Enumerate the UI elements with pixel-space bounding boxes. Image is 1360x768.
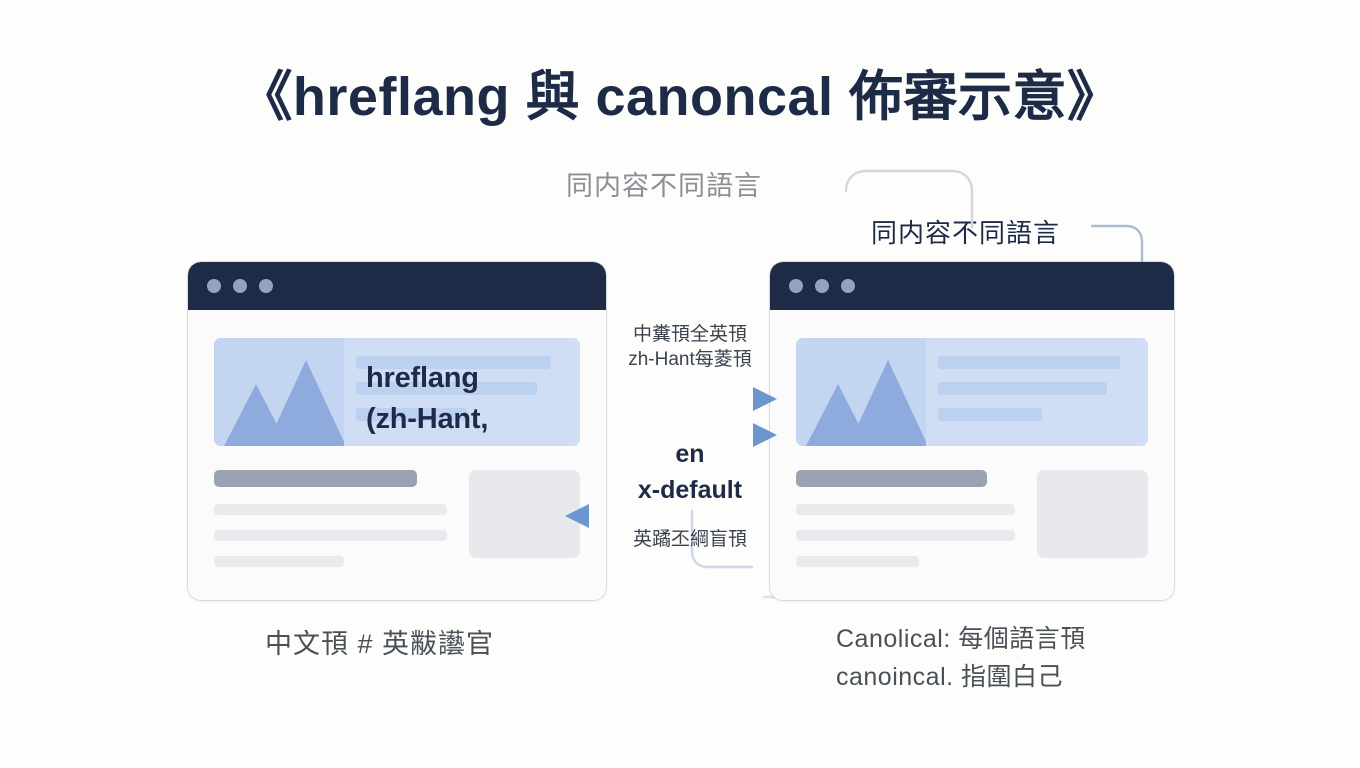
label-lang-codes: en x-default xyxy=(620,437,760,508)
content-section-left xyxy=(214,470,580,582)
mountain-peak-large xyxy=(848,360,926,446)
hero-card-left: hreflang (zh-Hant, xyxy=(214,338,580,446)
hreflang-overlay-text: hreflang (zh-Hant, xyxy=(366,358,488,440)
caption-right-line1: Canolical: 每個語言頇 xyxy=(836,620,1086,658)
content-line xyxy=(214,504,447,515)
content-line xyxy=(796,504,1015,515)
label-hreflang-reverse: 英蹫丕綱盲頇 xyxy=(608,524,772,551)
content-line xyxy=(796,556,919,567)
mountain-peak-large xyxy=(266,360,344,446)
window-dot-maximize-icon[interactable] xyxy=(841,279,855,293)
hreflang-overlay-line1: hreflang xyxy=(366,358,488,399)
label-lang-x-default: x-default xyxy=(620,473,760,509)
annotation-right-note: 同内容不同語言 xyxy=(871,213,1060,250)
hreflang-overlay-line2: (zh-Hant, xyxy=(366,399,488,440)
label-hreflang-forward-line1: 中糞頇全英頇 xyxy=(610,322,770,347)
english-page-window[interactable] xyxy=(770,262,1174,600)
window-titlebar-left xyxy=(188,262,606,310)
window-body-right xyxy=(770,310,1174,600)
caption-right-window: Canolical: 每個語言頇 canoincal. 指圍白己 xyxy=(836,620,1086,696)
diagram-canvas: 《hreflang 與 canoncal 佈審示意》 同内容不同語言 同内容不同… xyxy=(0,0,1360,768)
content-image-placeholder xyxy=(1037,470,1148,558)
hero-line xyxy=(938,408,1042,421)
content-text-block-left xyxy=(214,470,447,582)
window-dot-minimize-icon[interactable] xyxy=(233,279,247,293)
label-lang-en: en xyxy=(620,437,760,473)
window-body-left: hreflang (zh-Hant, xyxy=(188,310,606,600)
caption-left-window: 中文頇 # 英黻讛官 xyxy=(265,622,494,661)
content-line xyxy=(796,530,1015,541)
window-dot-minimize-icon[interactable] xyxy=(815,279,829,293)
caption-right-line2: canoincal. 指圍白己 xyxy=(836,658,1086,696)
content-text-block-right xyxy=(796,470,1015,582)
content-line xyxy=(214,530,447,541)
label-hreflang-forward: 中糞頇全英頇 zh-Hant每菱頇 xyxy=(610,322,770,373)
content-line xyxy=(214,556,344,567)
window-dot-close-icon[interactable] xyxy=(207,279,221,293)
content-heading-bar xyxy=(214,470,417,487)
content-image-placeholder xyxy=(469,470,580,558)
content-section-right xyxy=(796,470,1148,582)
hero-line xyxy=(938,356,1120,369)
window-dot-maximize-icon[interactable] xyxy=(259,279,273,293)
hero-line xyxy=(938,382,1107,395)
chinese-page-window[interactable]: hreflang (zh-Hant, xyxy=(188,262,606,600)
label-hreflang-forward-line2: zh-Hant每菱頇 xyxy=(610,347,770,372)
window-dot-close-icon[interactable] xyxy=(789,279,803,293)
window-titlebar-right xyxy=(770,262,1174,310)
hero-card-right xyxy=(796,338,1148,446)
annotation-left-note: 同内容不同語言 xyxy=(566,164,762,203)
hero-text-placeholder-right xyxy=(926,338,1148,446)
content-heading-bar xyxy=(796,470,987,487)
mountain-image-icon xyxy=(796,338,926,446)
mountain-image-icon xyxy=(214,338,344,446)
page-title: 《hreflang 與 canoncal 佈審示意》 xyxy=(0,52,1360,131)
